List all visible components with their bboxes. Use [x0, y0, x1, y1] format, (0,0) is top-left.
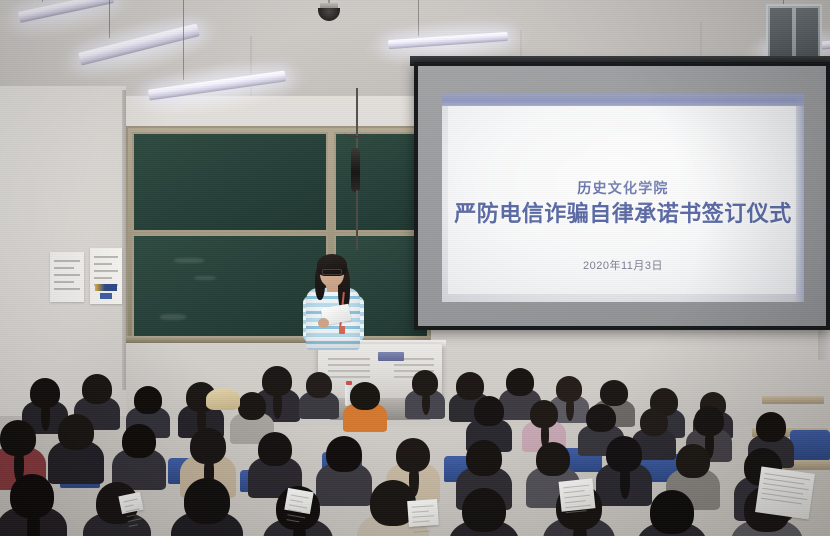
- audience-member-head: [184, 478, 230, 524]
- wall-notice-right-text-line: [94, 263, 112, 265]
- presenter-badge: [339, 326, 345, 334]
- student-document-4-text-line: [413, 521, 430, 523]
- notice-color-chip: [95, 284, 117, 291]
- audience-baseball-cap: [206, 388, 240, 410]
- wall-notice-left-text-line: [54, 288, 80, 290]
- notice-color-chip-2: [100, 293, 112, 299]
- student-document-4-text-line: [412, 511, 429, 513]
- student-document-2-text-line: [565, 505, 591, 509]
- audience-member-ponytail: [422, 391, 430, 416]
- student-document-2-text-line: [564, 490, 585, 493]
- presentation-slide: 历史文化学院 严防电信诈骗自律承诺书签订仪式 2020年11月3日: [442, 94, 804, 302]
- wall-notice-right-text-line: [94, 256, 118, 258]
- wall-notice-right-text-line: [94, 277, 112, 279]
- student-document-3-text-line: [291, 495, 309, 499]
- student-document-3-text-line: [290, 499, 303, 502]
- blackboard-panel-top-left: [132, 132, 328, 232]
- upper-right-window: [766, 4, 822, 60]
- student-document-2-text-line: [565, 500, 586, 503]
- wall-notice-right-text-line: [94, 270, 118, 272]
- wall-notice-left-text-line: [54, 281, 74, 283]
- audience-member-head: [586, 404, 616, 432]
- microphone-cable-upper: [356, 88, 358, 150]
- wall-notice-left: [50, 252, 84, 302]
- audience-member-head: [238, 392, 266, 420]
- audience-member-head: [134, 386, 162, 414]
- audience-group: [0, 360, 830, 536]
- window-pane-1: [770, 8, 792, 56]
- audience-member-head: [474, 396, 504, 426]
- student-document-2-text-line: [564, 495, 590, 499]
- student-document-3-text-line: [289, 504, 307, 508]
- audience-member-head: [326, 436, 362, 472]
- projection-screen[interactable]: 历史文化学院 严防电信诈骗自律承诺书签订仪式 2020年11月3日: [414, 62, 830, 330]
- audience-member-head: [506, 368, 534, 396]
- slide-title-text: 严防电信诈骗自律承诺书签订仪式: [442, 196, 804, 228]
- side-desk-1: [762, 396, 824, 404]
- student-document-1: [755, 466, 815, 519]
- student-document-2: [559, 478, 596, 511]
- slide-date-text: 2020年11月3日: [442, 257, 804, 273]
- chair-back-7: [790, 430, 830, 460]
- audience-member-ponytail: [27, 509, 40, 536]
- student-document-4: [407, 499, 439, 527]
- audience-member-head: [456, 372, 484, 400]
- student-document-4-text-line: [412, 505, 434, 508]
- audience-member-head: [650, 490, 694, 534]
- wall-notice-left-text-line: [54, 267, 74, 269]
- window-pane-2: [796, 8, 818, 56]
- audience-member-head: [462, 488, 506, 532]
- audience-member-head: [350, 382, 380, 410]
- slide-organization-text: 历史文化学院: [442, 178, 804, 198]
- wall-notice-left-text-line: [54, 274, 80, 276]
- audience-member-ponytail: [293, 521, 306, 536]
- student-document-1-text-line: [761, 498, 802, 505]
- audience-member-head: [58, 414, 94, 450]
- student-document-5-text-line: [126, 508, 140, 512]
- presenter-hand: [318, 318, 329, 328]
- eyeglasses-icon: [322, 269, 342, 275]
- chalk-smudge-3: [160, 314, 186, 320]
- student-document-5: [118, 492, 143, 514]
- microphone-cable-lower: [356, 190, 358, 250]
- chalk-smudge-2: [194, 276, 216, 280]
- audience-member-head: [122, 424, 156, 458]
- wall-notice-right: [90, 248, 122, 304]
- hanging-microphone-icon: [351, 148, 360, 192]
- microphone-hook: [344, 128, 366, 138]
- fluorescent-tube-1-wire: [42, 0, 43, 2]
- audience-member-head: [676, 444, 710, 478]
- student-document-5-text-line: [124, 499, 138, 503]
- student-document-3: [284, 488, 313, 514]
- projection-screen-surface: 历史文化学院 严防电信诈骗自律承诺书签订仪式 2020年11月3日: [418, 66, 826, 326]
- audience-member-head: [600, 380, 628, 406]
- blackboard-frame: [126, 126, 431, 342]
- classroom-photograph: 历史文化学院 严防电信诈骗自律承诺书签订仪式 2020年11月3日: [0, 0, 830, 536]
- audience-member-head: [536, 442, 570, 476]
- audience-member-head: [306, 372, 332, 398]
- wall-notice-left-text-line: [54, 260, 80, 262]
- student-document-2-text-line: [563, 485, 589, 489]
- student-document-4-text-line: [412, 515, 434, 518]
- slide-header-band: [442, 94, 804, 106]
- ceiling-seam-2: [250, 36, 252, 98]
- audience-member-head: [258, 432, 292, 466]
- audience-member-head: [466, 440, 502, 476]
- audience-member-head: [82, 374, 112, 404]
- audience-member-ponytail: [566, 397, 574, 422]
- student-document-5-text-line: [125, 505, 134, 508]
- fluorescent-tube-2-wire: [109, 0, 110, 38]
- chalk-smudge-1: [174, 258, 204, 263]
- fluorescent-tube-4-wire: [418, 0, 419, 36]
- fluorescent-tube-3-wire: [183, 0, 184, 80]
- audience-member-head: [756, 412, 786, 442]
- blackboard-panel-bottom-left: [132, 234, 328, 338]
- audience-member-head: [640, 408, 668, 436]
